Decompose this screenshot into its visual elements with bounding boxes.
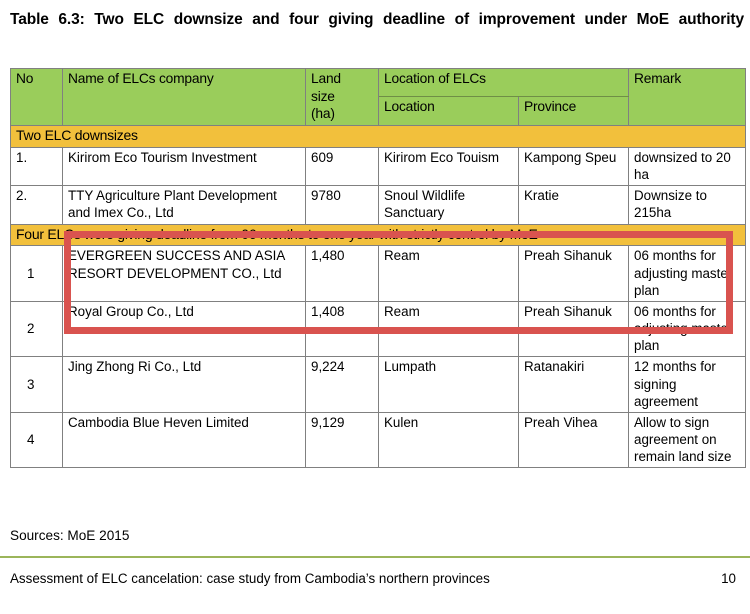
cell-no: 2 xyxy=(11,301,63,356)
cell-province: Kratie xyxy=(519,186,629,224)
cell-province: Ratanakiri xyxy=(519,357,629,412)
table-row: 3 Jing Zhong Ri Co., Ltd 9,224 Lumpath R… xyxy=(11,357,746,412)
cell-province: Kampong Speu xyxy=(519,147,629,185)
header-row-top: No Name of ELCs company Land size (ha) L… xyxy=(11,69,746,97)
cell-company-name: TTY Agriculture Plant Development and Im… xyxy=(63,186,306,224)
section-banner-four-elcs-deadline: Four ELCs were giving deadline from 06 m… xyxy=(11,224,746,246)
table-header: No Name of ELCs company Land size (ha) L… xyxy=(11,69,746,126)
cell-remark: Downsize to 215ha xyxy=(629,186,746,224)
cell-no: 1 xyxy=(11,246,63,301)
cell-company-name: Cambodia Blue Heven Limited xyxy=(63,412,306,467)
footer-page-number: 10 xyxy=(721,571,736,586)
column-header-no: No xyxy=(11,69,63,126)
elc-table: No Name of ELCs company Land size (ha) L… xyxy=(10,68,746,468)
land-size-line-2: size xyxy=(311,88,374,106)
cell-remark: Allow to sign agreement on remain land s… xyxy=(629,412,746,467)
cell-no: 2. xyxy=(11,186,63,224)
page-title: Table 6.3: Two ELC downsize and four giv… xyxy=(10,10,744,52)
cell-company-name: Kirirom Eco Tourism Investment xyxy=(63,147,306,185)
column-header-location-group: Location of ELCs xyxy=(379,69,629,97)
cell-land-size: 9780 xyxy=(306,186,379,224)
cell-land-size: 9,224 xyxy=(306,357,379,412)
cell-remark: 06 months for adjusting master plan xyxy=(629,246,746,301)
column-header-province: Province xyxy=(519,97,629,125)
column-header-location: Location xyxy=(379,97,519,125)
cell-remark: downsized to 20 ha xyxy=(629,147,746,185)
footer-title: Assessment of ELC cancelation: case stud… xyxy=(10,571,490,586)
cell-land-size: 1,408 xyxy=(306,301,379,356)
cell-province: Preah Vihea xyxy=(519,412,629,467)
cell-location: Kirirom Eco Touism xyxy=(379,147,519,185)
cell-location: Ream xyxy=(379,246,519,301)
table-row: 2. TTY Agriculture Plant Development and… xyxy=(11,186,746,224)
cell-land-size: 609 xyxy=(306,147,379,185)
cell-company-name: Jing Zhong Ri Co., Ltd xyxy=(63,357,306,412)
table-body: Two ELC downsizes 1. Kirirom Eco Tourism… xyxy=(11,125,746,467)
table-row: 2 Royal Group Co., Ltd 1,408 Ream Preah … xyxy=(11,301,746,356)
table-row: 4 Cambodia Blue Heven Limited 9,129 Kule… xyxy=(11,412,746,467)
sources-note: Sources: MoE 2015 xyxy=(10,528,129,543)
column-header-remark: Remark xyxy=(629,69,746,126)
cell-province: Preah Sihanuk xyxy=(519,301,629,356)
cell-remark: 06 months for adjusting master plan xyxy=(629,301,746,356)
cell-province: Preah Sihanuk xyxy=(519,246,629,301)
column-header-land-size: Land size (ha) xyxy=(306,69,379,126)
land-size-line-3: (ha) xyxy=(311,105,374,123)
cell-location: Kulen xyxy=(379,412,519,467)
cell-location: Snoul Wildlife Sanctuary xyxy=(379,186,519,224)
cell-no: 3 xyxy=(11,357,63,412)
cell-location: Ream xyxy=(379,301,519,356)
cell-no: 1. xyxy=(11,147,63,185)
cell-company-name: EVERGREEN SUCCESS AND ASIA RESORT DEVELO… xyxy=(63,246,306,301)
table-row: 1 EVERGREEN SUCCESS AND ASIA RESORT DEVE… xyxy=(11,246,746,301)
footer-divider xyxy=(0,556,750,558)
cell-no: 4 xyxy=(11,412,63,467)
land-size-line-1: Land xyxy=(311,70,374,88)
cell-location: Lumpath xyxy=(379,357,519,412)
cell-land-size: 1,480 xyxy=(306,246,379,301)
table-container: No Name of ELCs company Land size (ha) L… xyxy=(10,68,745,468)
cell-remark: 12 months for signing agreement xyxy=(629,357,746,412)
section-banner-row: Four ELCs were giving deadline from 06 m… xyxy=(11,224,746,246)
table-row: 1. Kirirom Eco Tourism Investment 609 Ki… xyxy=(11,147,746,185)
section-banner-row: Two ELC downsizes xyxy=(11,125,746,147)
column-header-name: Name of ELCs company xyxy=(63,69,306,126)
cell-company-name: Royal Group Co., Ltd xyxy=(63,301,306,356)
section-banner-two-elc-downsizes: Two ELC downsizes xyxy=(11,125,746,147)
cell-land-size: 9,129 xyxy=(306,412,379,467)
